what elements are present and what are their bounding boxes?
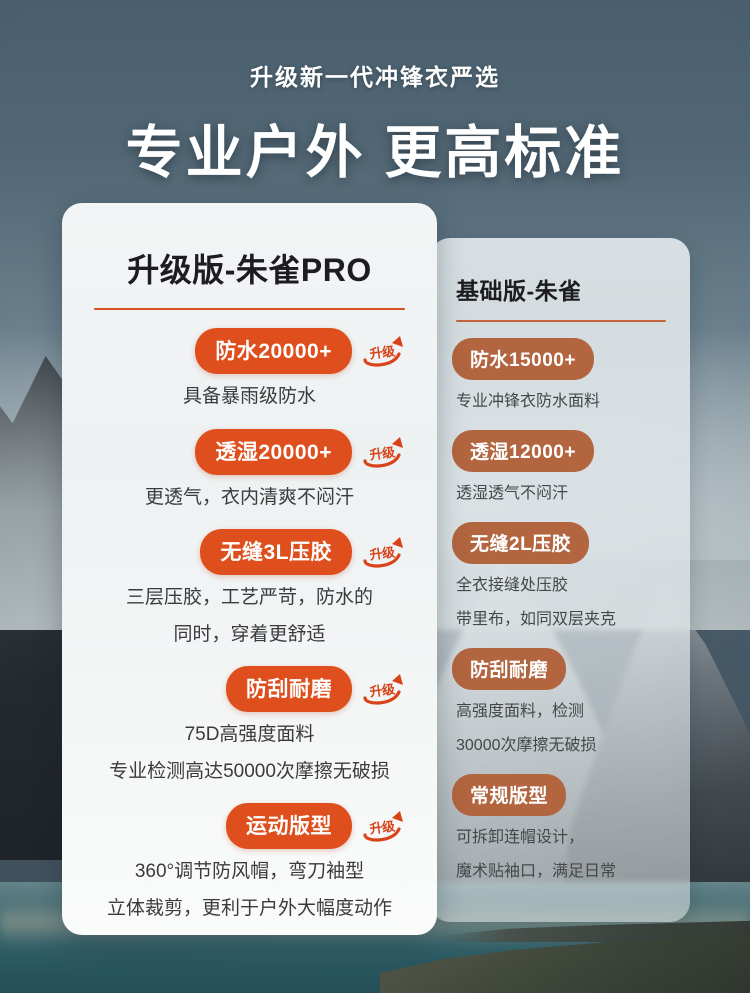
basic-feature-description: 魔术贴袖口，满足日常: [452, 860, 668, 884]
basic-feature-description: 带里布，如同双层夹克: [452, 608, 668, 632]
upgrade-arrow-icon: 升级: [359, 334, 405, 368]
pro-feature-description: 具备暴雨级防水: [88, 383, 411, 411]
basic-feature-badge[interactable]: 常规版型: [452, 774, 566, 816]
pro-feature-item: 透湿20000+升级更透气，衣内清爽不闷汗: [88, 429, 411, 512]
pro-version-panel: 升级版-朱雀PRO 防水20000+升级具备暴雨级防水透湿20000+升级更透气…: [62, 203, 437, 935]
pro-feature-item: 防水20000+升级具备暴雨级防水: [88, 328, 411, 411]
upgrade-arrow-icon: 升级: [359, 672, 405, 706]
pro-badge-row: 无缝3L压胶升级: [88, 529, 411, 575]
basic-feature-description: 透湿透气不闷汗: [452, 482, 668, 506]
pro-feature-badge[interactable]: 防刮耐磨: [226, 666, 352, 712]
pro-badge-row: 防刮耐磨升级: [88, 666, 411, 712]
pro-badge-row: 防水20000+升级: [88, 328, 411, 374]
basic-feature-badge[interactable]: 无缝2L压胶: [452, 522, 589, 564]
basic-feature-item: 透湿12000+透湿透气不闷汗: [452, 430, 668, 506]
pro-feature-item: 防刮耐磨升级75D高强度面料专业检测高达50000次摩擦无破损: [88, 666, 411, 785]
pro-feature-description: 三层压胶，工艺严苛，防水的: [88, 584, 411, 612]
basic-feature-description: 可拆卸连帽设计，: [452, 826, 668, 850]
upgrade-arrow-icon: 升级: [359, 809, 405, 843]
basic-panel-title: 基础版-朱雀: [452, 272, 668, 306]
basic-feature-badge[interactable]: 防刮耐磨: [452, 648, 566, 690]
upgrade-arrow-icon: 升级: [359, 435, 405, 469]
pro-panel-title: 升级版-朱雀PRO: [88, 245, 411, 291]
upgrade-arrow-icon: 升级: [359, 535, 405, 569]
pro-feature-item: 无缝3L压胶升级三层压胶，工艺严苛，防水的同时，穿着更舒适: [88, 529, 411, 648]
pro-panel-divider: [94, 308, 405, 310]
basic-feature-description: 高强度面料，检测: [452, 700, 668, 724]
basic-version-panel: 基础版-朱雀 防水15000+专业冲锋衣防水面料透湿12000+透湿透气不闷汗无…: [430, 238, 690, 922]
basic-feature-item: 防刮耐磨高强度面料，检测30000次摩擦无破损: [452, 648, 668, 758]
basic-feature-item: 无缝2L压胶全衣接缝处压胶带里布，如同双层夹克: [452, 522, 668, 632]
pro-feature-description: 专业检测高达50000次摩擦无破损: [88, 758, 411, 786]
basic-feature-list: 防水15000+专业冲锋衣防水面料透湿12000+透湿透气不闷汗无缝2L压胶全衣…: [452, 338, 668, 884]
pro-feature-item: 运动版型升级360°调节防风帽，弯刀袖型立体裁剪，更利于户外大幅度动作: [88, 803, 411, 922]
pro-feature-description: 同时，穿着更舒适: [88, 621, 411, 649]
basic-feature-item: 防水15000+专业冲锋衣防水面料: [452, 338, 668, 414]
pro-feature-badge[interactable]: 无缝3L压胶: [200, 529, 352, 575]
pro-feature-description: 360°调节防风帽，弯刀袖型: [88, 858, 411, 886]
header: 升级新一代冲锋衣严选 专业户外 更高标准: [0, 0, 750, 189]
basic-feature-badge[interactable]: 防水15000+: [452, 338, 594, 380]
pro-feature-badge[interactable]: 透湿20000+: [195, 429, 352, 475]
basic-feature-description: 专业冲锋衣防水面料: [452, 390, 668, 414]
pro-feature-description: 立体裁剪，更利于户外大幅度动作: [88, 895, 411, 923]
header-headline: 专业户外 更高标准: [0, 107, 750, 189]
pro-badge-row: 透湿20000+升级: [88, 429, 411, 475]
pro-feature-description: 75D高强度面料: [88, 721, 411, 749]
basic-panel-divider: [456, 320, 666, 322]
basic-feature-badge[interactable]: 透湿12000+: [452, 430, 594, 472]
basic-feature-description: 全衣接缝处压胶: [452, 574, 668, 598]
pro-feature-badge[interactable]: 运动版型: [226, 803, 352, 849]
basic-feature-item: 常规版型可拆卸连帽设计，魔术贴袖口，满足日常: [452, 774, 668, 884]
pro-feature-description: 更透气，衣内清爽不闷汗: [88, 484, 411, 512]
basic-feature-description: 30000次摩擦无破损: [452, 734, 668, 758]
pro-feature-badge[interactable]: 防水20000+: [195, 328, 352, 374]
pro-feature-list: 防水20000+升级具备暴雨级防水透湿20000+升级更透气，衣内清爽不闷汗无缝…: [88, 328, 411, 922]
pro-badge-row: 运动版型升级: [88, 803, 411, 849]
header-eyebrow: 升级新一代冲锋衣严选: [0, 58, 750, 92]
